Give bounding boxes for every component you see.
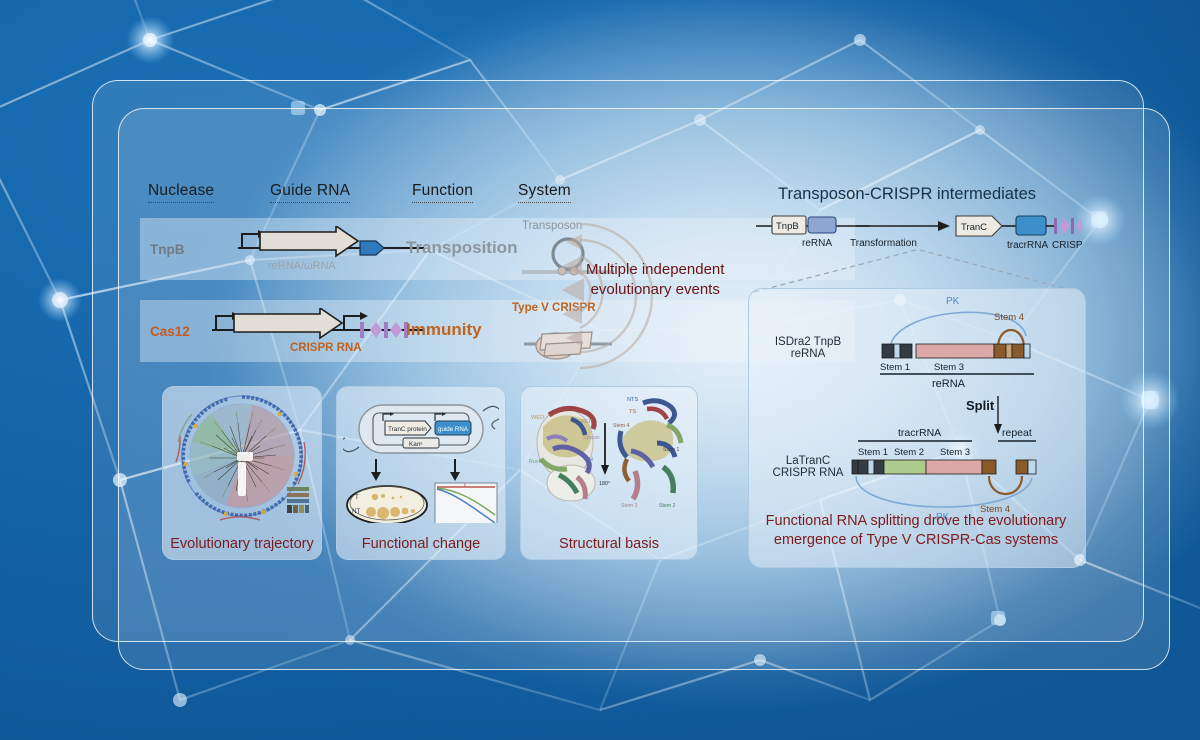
svg-text:WED: WED bbox=[531, 415, 544, 421]
column-header-nuclease-label: Nuclease bbox=[148, 182, 214, 199]
figure-canvas: Nuclease Guide RNA Function System TnpB … bbox=[0, 0, 1200, 740]
svg-text:T: T bbox=[355, 494, 359, 501]
card-functional-change[interactable]: TranC protein guide RNA Kanᵋ T NT bbox=[336, 386, 506, 560]
column-header-function: Function bbox=[412, 182, 473, 203]
svg-text:TnpB: TnpB bbox=[776, 221, 799, 232]
card-evolutionary-trajectory[interactable]: Evolutionary trajectory bbox=[162, 386, 322, 560]
bacterium-plasmid-assay-icon: TranC protein guide RNA Kanᵋ T NT bbox=[343, 391, 499, 523]
conclusion-line2: emergence of Type V CRISPR-Cas systems bbox=[748, 531, 1084, 550]
column-header-guide-rna-label: Guide RNA bbox=[270, 182, 350, 199]
svg-text:tracrRNA: tracrRNA bbox=[898, 427, 941, 439]
header-underline bbox=[412, 202, 473, 203]
column-header-guide-rna: Guide RNA bbox=[270, 182, 350, 203]
svg-text:RuvC: RuvC bbox=[529, 459, 543, 465]
rna-a-diagram: PK Stem 4 Stem 1 Stem 3 reRNA bbox=[868, 292, 1068, 392]
svg-text:Stem 2: Stem 2 bbox=[894, 447, 924, 458]
svg-text:Stem 4: Stem 4 bbox=[613, 423, 630, 429]
svg-text:BH: BH bbox=[585, 457, 593, 463]
split-label: Split bbox=[966, 398, 994, 413]
svg-text:Stem 1: Stem 1 bbox=[663, 447, 680, 453]
phylogenetic-tree-icon bbox=[169, 389, 315, 523]
svg-text:Stem 1: Stem 1 bbox=[858, 447, 888, 458]
svg-text:guide RNA: guide RNA bbox=[438, 426, 469, 433]
row-label-cas12: Cas12 bbox=[150, 324, 190, 339]
card-caption-evolutionary-trajectory: Evolutionary trajectory bbox=[163, 536, 321, 552]
tnpb-gene-diagram bbox=[236, 226, 426, 260]
svg-text:Stem 1: Stem 1 bbox=[880, 362, 910, 373]
rna-b-diagram: tracrRNA repeat Stem 1 Stem 2 Stem 3 Ste… bbox=[840, 424, 1052, 520]
card-structural-basis[interactable]: WED REC Spacer BH RuvC 180° bbox=[520, 386, 698, 560]
column-header-nuclease: Nuclease bbox=[148, 182, 214, 203]
svg-text:repeat: repeat bbox=[1002, 427, 1032, 439]
middle-note: Multiple independent evolutionary events bbox=[586, 260, 724, 301]
svg-text:TranC: TranC bbox=[961, 222, 987, 233]
rna-a-name-line2: reRNA bbox=[762, 348, 854, 360]
right-panel-title: Transposon-CRISPR intermediates bbox=[778, 185, 1036, 204]
protein-rna-structure-icon: WED REC Spacer BH RuvC 180° bbox=[525, 391, 693, 523]
card-caption-structural-basis: Structural basis bbox=[521, 536, 697, 552]
svg-text:PK: PK bbox=[946, 296, 960, 307]
svg-text:REC: REC bbox=[581, 419, 593, 425]
svg-text:TS: TS bbox=[629, 409, 636, 415]
svg-text:reRNA: reRNA bbox=[932, 378, 966, 390]
column-header-function-label: Function bbox=[412, 182, 473, 199]
middle-note-line2: evolutionary events bbox=[586, 280, 724, 300]
svg-text:Spacer: Spacer bbox=[583, 435, 600, 441]
tnpb-guide-rna-label: reRNA/ωRNA bbox=[268, 260, 336, 272]
svg-text:NT: NT bbox=[352, 508, 360, 515]
svg-text:Stem 4: Stem 4 bbox=[994, 312, 1024, 323]
header-underline bbox=[148, 202, 214, 203]
function-label-transposition: Transposition bbox=[406, 238, 517, 258]
conclusion-caption: Functional RNA splitting drove the evolu… bbox=[748, 512, 1084, 550]
conclusion-line1: Functional RNA splitting drove the evolu… bbox=[748, 512, 1084, 531]
function-label-immunity: Immunity bbox=[406, 320, 482, 340]
rna-a-name-line1: ISDra2 TnpB bbox=[762, 336, 854, 348]
card-caption-functional-change: Functional change bbox=[337, 536, 505, 552]
middle-note-line1: Multiple independent bbox=[586, 260, 724, 280]
header-underline bbox=[270, 202, 350, 203]
svg-text:Stem 3: Stem 3 bbox=[934, 362, 964, 373]
rna-a-name: ISDra2 TnpB reRNA bbox=[762, 336, 854, 360]
svg-text:Stem 2: Stem 2 bbox=[659, 503, 676, 509]
cas12-guide-rna-label: CRISPR RNA bbox=[290, 342, 362, 354]
svg-text:NTS: NTS bbox=[627, 397, 638, 403]
svg-text:Stem 3: Stem 3 bbox=[940, 447, 970, 458]
svg-text:Kanᵋ: Kanᵋ bbox=[409, 441, 422, 448]
row-label-tnpb: TnpB bbox=[150, 242, 185, 257]
svg-text:TranC protein: TranC protein bbox=[388, 426, 427, 433]
cas12-gene-diagram bbox=[210, 308, 426, 342]
svg-text:180°: 180° bbox=[599, 481, 610, 487]
svg-text:Stem 3: Stem 3 bbox=[621, 503, 638, 509]
